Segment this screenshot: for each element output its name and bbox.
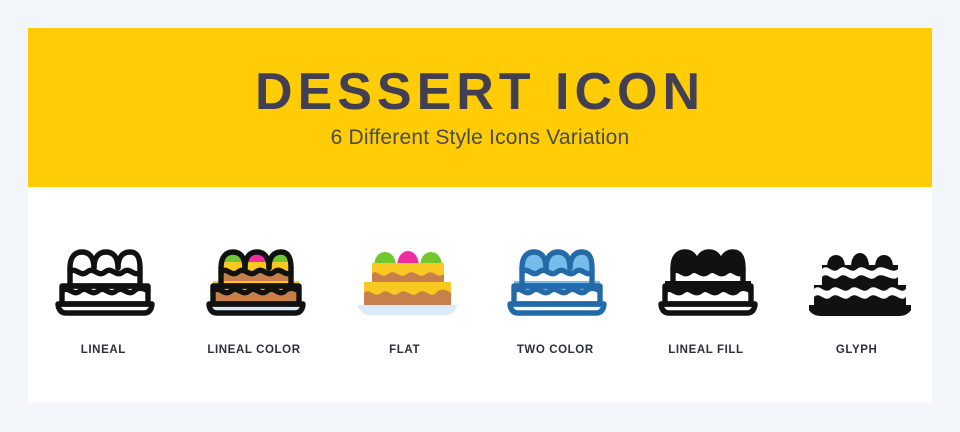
icon-cell-lineal-fill[interactable]: LINEAL FILL [631, 187, 781, 356]
icon-label-lineal-color: LINEAL COLOR [207, 344, 300, 356]
icon-label-glyph: GLYPH [836, 344, 878, 356]
cake-lineal-icon [48, 225, 158, 321]
icon-cell-two-color[interactable]: TWO COLOR [480, 187, 630, 356]
icon-cell-lineal-color[interactable]: LINEAL COLOR [179, 187, 329, 356]
icon-label-lineal-fill: LINEAL FILL [668, 344, 743, 356]
page-subtitle: 6 Different Style Icons Variation [331, 126, 630, 150]
icon-label-two-color: TWO COLOR [517, 344, 594, 356]
icon-cell-flat[interactable]: FLAT [330, 187, 480, 356]
icon-label-lineal: LINEAL [81, 344, 126, 356]
cake-lineal-fill-icon [651, 225, 761, 321]
header-band: DESSERT ICON 6 Different Style Icons Var… [28, 28, 932, 187]
page-title: DESSERT ICON [255, 65, 705, 126]
cake-lineal-color-icon [199, 225, 309, 321]
cake-flat-icon [350, 225, 460, 321]
icon-cell-glyph[interactable]: GLYPH [782, 187, 932, 356]
icon-label-flat: FLAT [389, 344, 420, 356]
icon-cell-lineal[interactable]: LINEAL [28, 187, 178, 356]
cake-two-color-icon [500, 225, 610, 321]
icon-strip: LINEAL [28, 187, 932, 403]
cake-glyph-icon [802, 225, 912, 321]
poster-card: DESSERT ICON 6 Different Style Icons Var… [28, 28, 932, 403]
